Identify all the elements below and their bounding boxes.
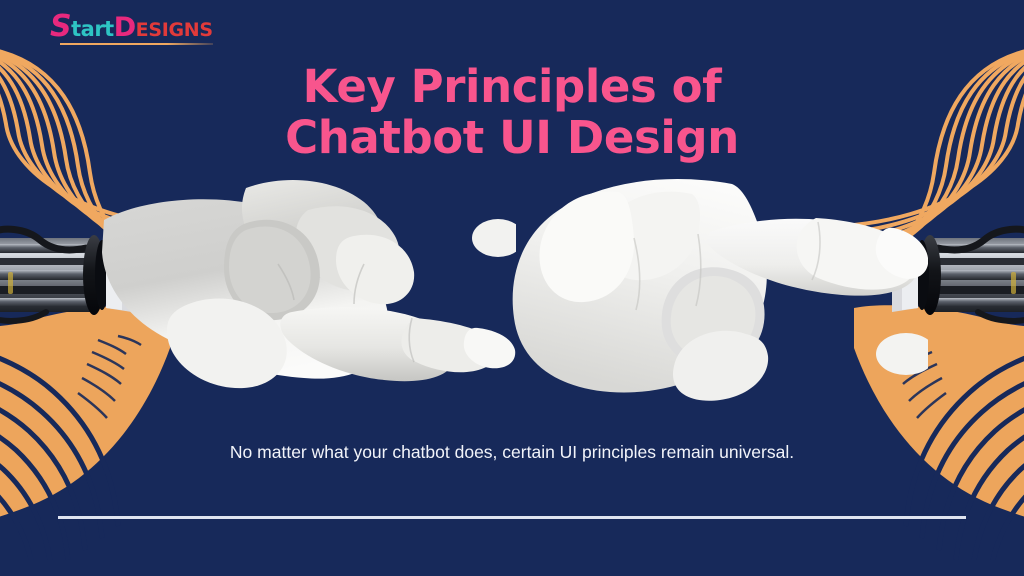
logo-letter-d: D	[114, 12, 136, 43]
page-title-line-2: Chatbot UI Design	[180, 113, 844, 163]
logo-text-esigns: ESIGNS	[136, 19, 213, 41]
robotic-hand-right-icon	[508, 166, 928, 402]
slide-canvas: StartDESIGNS Key Principles of Chatbot U…	[0, 0, 1024, 576]
page-title: Key Principles of Chatbot UI Design	[0, 62, 1024, 163]
brand-logo-wordmark: StartDESIGNS	[50, 12, 213, 42]
brand-logo[interactable]: StartDESIGNS	[50, 6, 213, 42]
logo-letter-s: S	[50, 9, 71, 44]
robotic-hand-left-icon	[96, 166, 516, 402]
logo-underline	[60, 43, 213, 45]
page-subtitle: No matter what your chatbot does, certai…	[192, 438, 832, 466]
bottom-divider	[58, 516, 966, 519]
page-title-line-1: Key Principles of	[180, 62, 844, 112]
logo-text-tart: tart	[71, 17, 114, 41]
